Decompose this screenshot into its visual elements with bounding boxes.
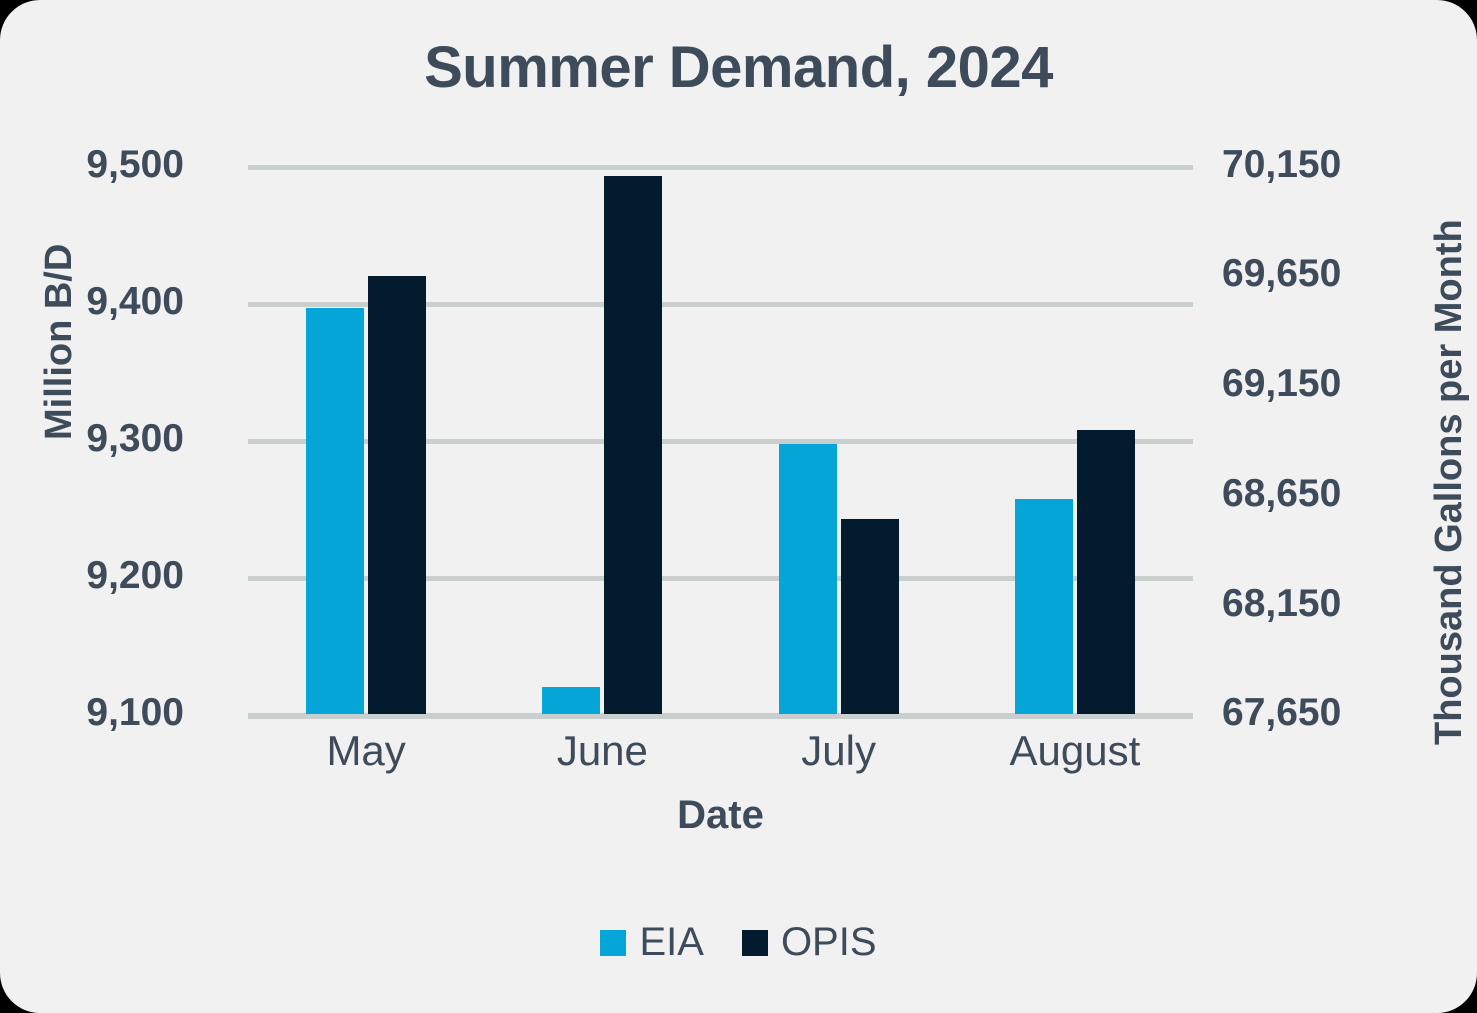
y-axis-right-tick: 67,650 xyxy=(1222,691,1422,735)
bar-opis-august[interactable] xyxy=(1077,430,1135,714)
y-axis-left-tick: 9,300 xyxy=(0,417,184,461)
page-title: Summer Demand, 2024 xyxy=(0,36,1477,100)
bar-groups xyxy=(248,165,1193,714)
bar-eia-july[interactable] xyxy=(779,444,837,714)
chart-legend: EIA OPIS xyxy=(0,920,1477,965)
x-axis-tick-august: August xyxy=(957,727,1193,775)
legend-swatch-icon-opis xyxy=(742,930,768,956)
bar-group-may xyxy=(248,165,484,714)
legend-label-opis: OPIS xyxy=(781,920,877,965)
bar-group-july xyxy=(721,165,957,714)
y-axis-left-title: Million B/D xyxy=(38,244,81,440)
legend-item-eia[interactable]: EIA xyxy=(600,920,703,965)
x-axis-title: Date xyxy=(248,793,1193,838)
y-axis-left-tick: 9,100 xyxy=(0,691,184,735)
x-axis-tick-june: June xyxy=(484,727,720,775)
legend-swatch-icon-eia xyxy=(600,930,626,956)
y-axis-right-title: Thousand Gallons per Month xyxy=(1428,219,1471,745)
bar-group-august xyxy=(957,165,1193,714)
x-axis-tick-july: July xyxy=(721,727,957,775)
bar-eia-may[interactable] xyxy=(306,308,364,714)
bar-opis-july[interactable] xyxy=(841,519,899,714)
bar-eia-august[interactable] xyxy=(1015,499,1073,714)
chart-card: Summer Demand, 2024 9,500 9,400 9,300 9,… xyxy=(0,0,1477,1013)
legend-item-opis[interactable]: OPIS xyxy=(742,920,877,965)
bar-group-june xyxy=(484,165,720,714)
y-axis-right-tick: 68,150 xyxy=(1222,582,1422,626)
bar-eia-june[interactable] xyxy=(542,687,600,714)
bar-opis-may[interactable] xyxy=(368,276,426,714)
legend-label-eia: EIA xyxy=(639,920,703,965)
x-axis-tick-may: May xyxy=(248,727,484,775)
x-axis-ticks: May June July August xyxy=(248,727,1193,775)
y-axis-right-tick: 69,650 xyxy=(1222,252,1422,296)
y-axis-left-tick: 9,400 xyxy=(0,280,184,324)
bar-opis-june[interactable] xyxy=(604,176,662,714)
y-axis-right-tick: 70,150 xyxy=(1222,143,1422,187)
y-axis-right-tick: 69,150 xyxy=(1222,362,1422,406)
y-axis-right-tick: 68,650 xyxy=(1222,472,1422,516)
y-axis-left-tick: 9,200 xyxy=(0,554,184,598)
y-axis-left-tick: 9,500 xyxy=(0,143,184,187)
